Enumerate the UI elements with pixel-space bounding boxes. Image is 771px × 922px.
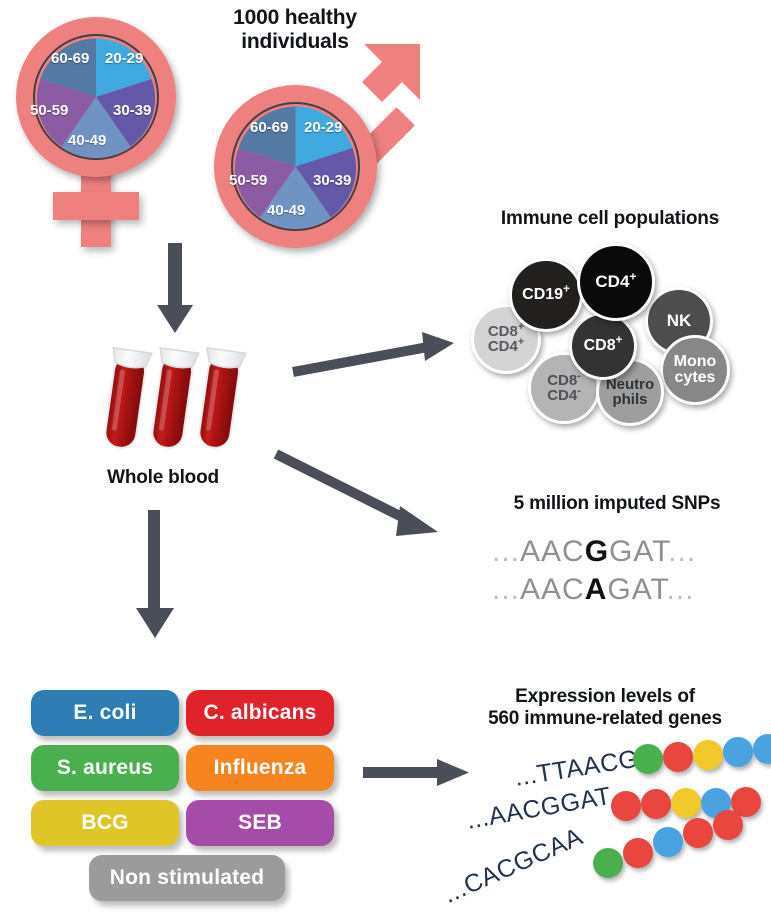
female-pie-label-60-69: 60-69 — [51, 50, 89, 67]
female-symbol: 20-29 30-39 40-49 50-59 60-69 — [8, 12, 198, 242]
gene-strand-2-sequence: ...AACGGAT — [464, 782, 613, 836]
male-pie-label-40-49: 40-49 — [267, 202, 305, 219]
gene-bead — [611, 791, 641, 821]
gene-bead — [593, 848, 623, 878]
immune-cell-label: CD19+ — [522, 287, 570, 303]
snp-variant-a: A — [585, 573, 608, 606]
gene-bead — [693, 740, 723, 770]
snp-post: GAT — [607, 573, 666, 606]
gene-strand-3: ...CACGCAA — [540, 830, 771, 900]
immune-populations-title: Immune cell populations — [455, 208, 765, 230]
stimulation-s-aureus[interactable]: S. aureus — [31, 745, 179, 791]
gene-bead — [713, 810, 743, 840]
snp-prefix: ... — [492, 535, 520, 568]
expression-title-line1: Expression levels of — [440, 686, 770, 708]
stimulation-e-coli[interactable]: E. coli — [31, 690, 179, 736]
expression-title-line2: 560 immune-related genes — [440, 708, 770, 730]
male-pie-label-30-39: 30-39 — [313, 172, 351, 189]
immune-cell-label: CD4+ — [595, 273, 636, 290]
gene-bead — [633, 744, 663, 774]
immune-cell-label: CD8+CD4+ — [488, 324, 524, 355]
expression-title: Expression levels of 560 immune-related … — [440, 686, 770, 730]
whole-blood-label: Whole blood — [78, 467, 248, 489]
stimulation-non-stimulated[interactable]: Non stimulated — [89, 855, 285, 901]
immune-cell-monocytes: Monocytes — [660, 335, 730, 405]
snp-sequence-row-2: ...AACAGAT... — [492, 573, 695, 607]
gene-bead — [723, 737, 753, 767]
snp-title: 5 million imputed SNPs — [472, 493, 762, 515]
stimulation-influenza[interactable]: Influenza — [186, 745, 334, 791]
female-pie-label-30-39: 30-39 — [113, 102, 151, 119]
gene-bead — [641, 789, 671, 819]
arrow-blood-to-immune — [290, 330, 456, 380]
snp-variant-g: G — [585, 535, 609, 568]
blood-tube-2 — [147, 348, 199, 450]
snp-suffix: ... — [667, 573, 695, 606]
immune-cell-cd19pos: CD19+ — [509, 258, 583, 332]
gene-bead — [683, 818, 713, 848]
immune-cell-label: NK — [667, 312, 692, 329]
stimulation-bcg[interactable]: BCG — [31, 800, 179, 846]
immune-cell-label: CD8-CD4- — [547, 373, 581, 404]
snp-post: GAT — [609, 535, 668, 568]
immune-cell-label: CD8+ — [584, 338, 623, 354]
arrow-stimulations-to-expression — [363, 755, 473, 791]
arrow-cohort-to-blood — [155, 243, 195, 335]
gene-bead — [753, 734, 771, 764]
female-symbol-stem-horizontal — [53, 192, 139, 220]
female-pie-label-20-29: 20-29 — [105, 50, 143, 67]
snp-pre: AAC — [520, 535, 585, 568]
male-pie-label-50-59: 50-59 — [229, 172, 267, 189]
gene-bead — [663, 742, 693, 772]
female-pie-label-40-49: 40-49 — [68, 132, 106, 149]
cohort-title-line1: 1000 healthy — [180, 6, 410, 30]
immune-cell-cd4pos: CD4+ — [577, 243, 655, 321]
arrow-blood-to-stimulations — [132, 510, 178, 640]
male-pie-label-60-69: 60-69 — [250, 119, 288, 136]
blood-tube-3 — [194, 348, 246, 450]
gene-bead — [623, 838, 653, 868]
gene-bead — [671, 788, 701, 818]
snp-sequence-row-1: ...AACGGAT... — [492, 535, 696, 569]
blood-tubes-svg — [92, 340, 262, 460]
gene-bead — [653, 827, 683, 857]
blood-tube-1 — [100, 348, 152, 450]
female-pie-label-50-59: 50-59 — [30, 102, 68, 119]
male-pie-label-20-29: 20-29 — [304, 119, 342, 136]
immune-cell-label: Neutrophils — [606, 377, 654, 408]
snp-suffix: ... — [668, 535, 696, 568]
figure-canvas: 1000 healthy individuals 20-29 30-39 40-… — [0, 0, 771, 922]
snp-pre: AAC — [520, 573, 585, 606]
stimulation-c-albicans[interactable]: C. albicans — [186, 690, 334, 736]
snp-prefix: ... — [492, 573, 520, 606]
immune-cell-cd8pos: CD8+ — [569, 312, 637, 380]
male-symbol: 20-29 30-39 40-49 50-59 60-69 — [196, 40, 426, 250]
blood-tubes — [92, 340, 262, 460]
arrow-blood-to-snps — [272, 450, 444, 542]
stimulation-seb[interactable]: SEB — [186, 800, 334, 846]
immune-cell-label: Monocytes — [674, 354, 717, 387]
